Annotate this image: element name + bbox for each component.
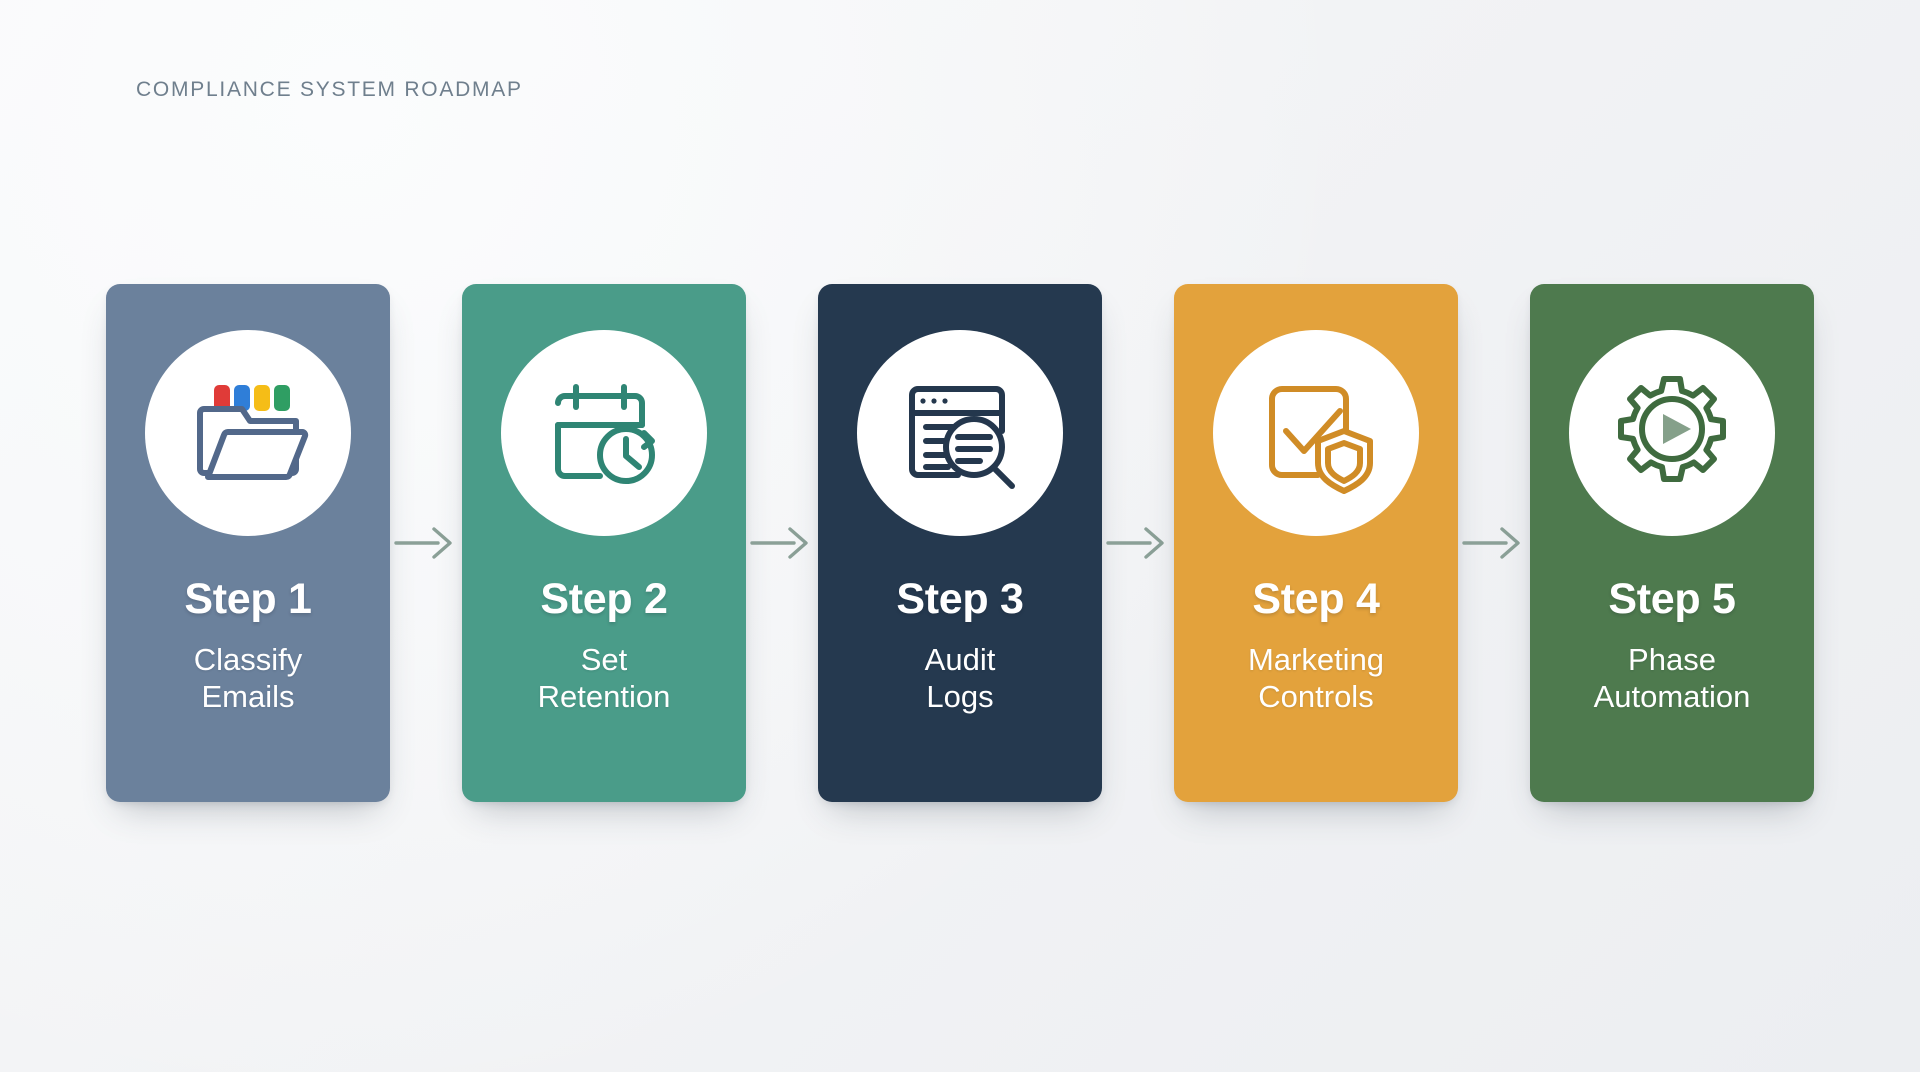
step-description-line: Phase [1594,642,1751,679]
page-kicker: COMPLIANCE SYSTEM ROADMAP [136,78,523,102]
step-card-1[interactable]: Step 1ClassifyEmails [106,284,390,802]
step-description-line: Classify [194,642,303,679]
connector-arrow-1 [390,284,462,802]
step-description-line: Set [538,642,671,679]
step-icon-badge [1569,330,1775,536]
roadmap-flow: Step 1ClassifyEmails Step 2SetRetention [0,284,1920,804]
step-description-line: Automation [1594,679,1751,716]
gear-play-icon [1608,369,1736,497]
folder-tabs-icon [184,369,312,497]
step-description-line: Controls [1248,679,1384,716]
step-title: Step 5 [1608,578,1735,621]
step-icon-badge [501,330,707,536]
arrow-right-icon [750,521,814,565]
step-card-4[interactable]: Step 4MarketingControls [1174,284,1458,802]
calendar-clock-icon [540,369,668,497]
step-title: Step 3 [896,578,1023,621]
step-icon-badge [857,330,1063,536]
step-description: AuditLogs [911,642,1010,715]
connector-arrow-3 [1102,284,1174,802]
arrow-right-icon [394,521,458,565]
step-title: Step 2 [540,578,667,621]
connector-arrow-4 [1458,284,1530,802]
step-description-line: Logs [925,679,996,716]
step-title: Step 1 [184,578,311,621]
arrow-right-icon [1106,521,1170,565]
step-description: MarketingControls [1234,642,1398,715]
arrow-right-icon [1462,521,1526,565]
step-card-5[interactable]: Step 5PhaseAutomation [1530,284,1814,802]
step-description-line: Marketing [1248,642,1384,679]
step-description-line: Audit [925,642,996,679]
step-icon-badge [145,330,351,536]
step-title: Step 4 [1252,578,1379,621]
check-shield-icon [1252,369,1380,497]
step-card-3[interactable]: Step 3AuditLogs [818,284,1102,802]
step-description: SetRetention [524,642,685,715]
connector-arrow-2 [746,284,818,802]
step-card-2[interactable]: Step 2SetRetention [462,284,746,802]
step-icon-badge [1213,330,1419,536]
step-description-line: Retention [538,679,671,716]
window-search-icon [896,369,1024,497]
step-description-line: Emails [194,679,303,716]
step-description: PhaseAutomation [1580,642,1765,715]
step-description: ClassifyEmails [180,642,317,715]
